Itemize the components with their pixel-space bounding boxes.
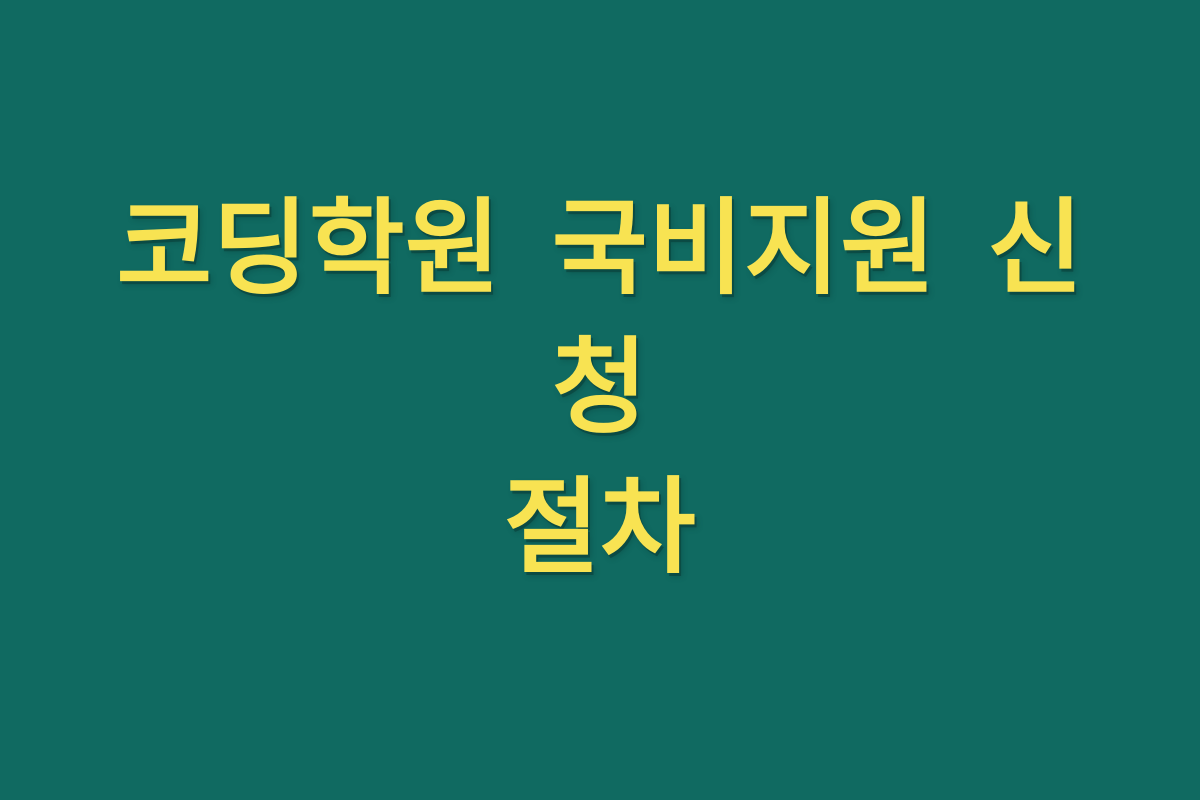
title-line-2: 절차 [80,458,1120,597]
page-title: 코딩학원 국비지원 신청 절차 [80,179,1120,597]
title-line-1: 코딩학원 국비지원 신청 [80,179,1120,458]
title-banner: 코딩학원 국비지원 신청 절차 [0,0,1200,800]
